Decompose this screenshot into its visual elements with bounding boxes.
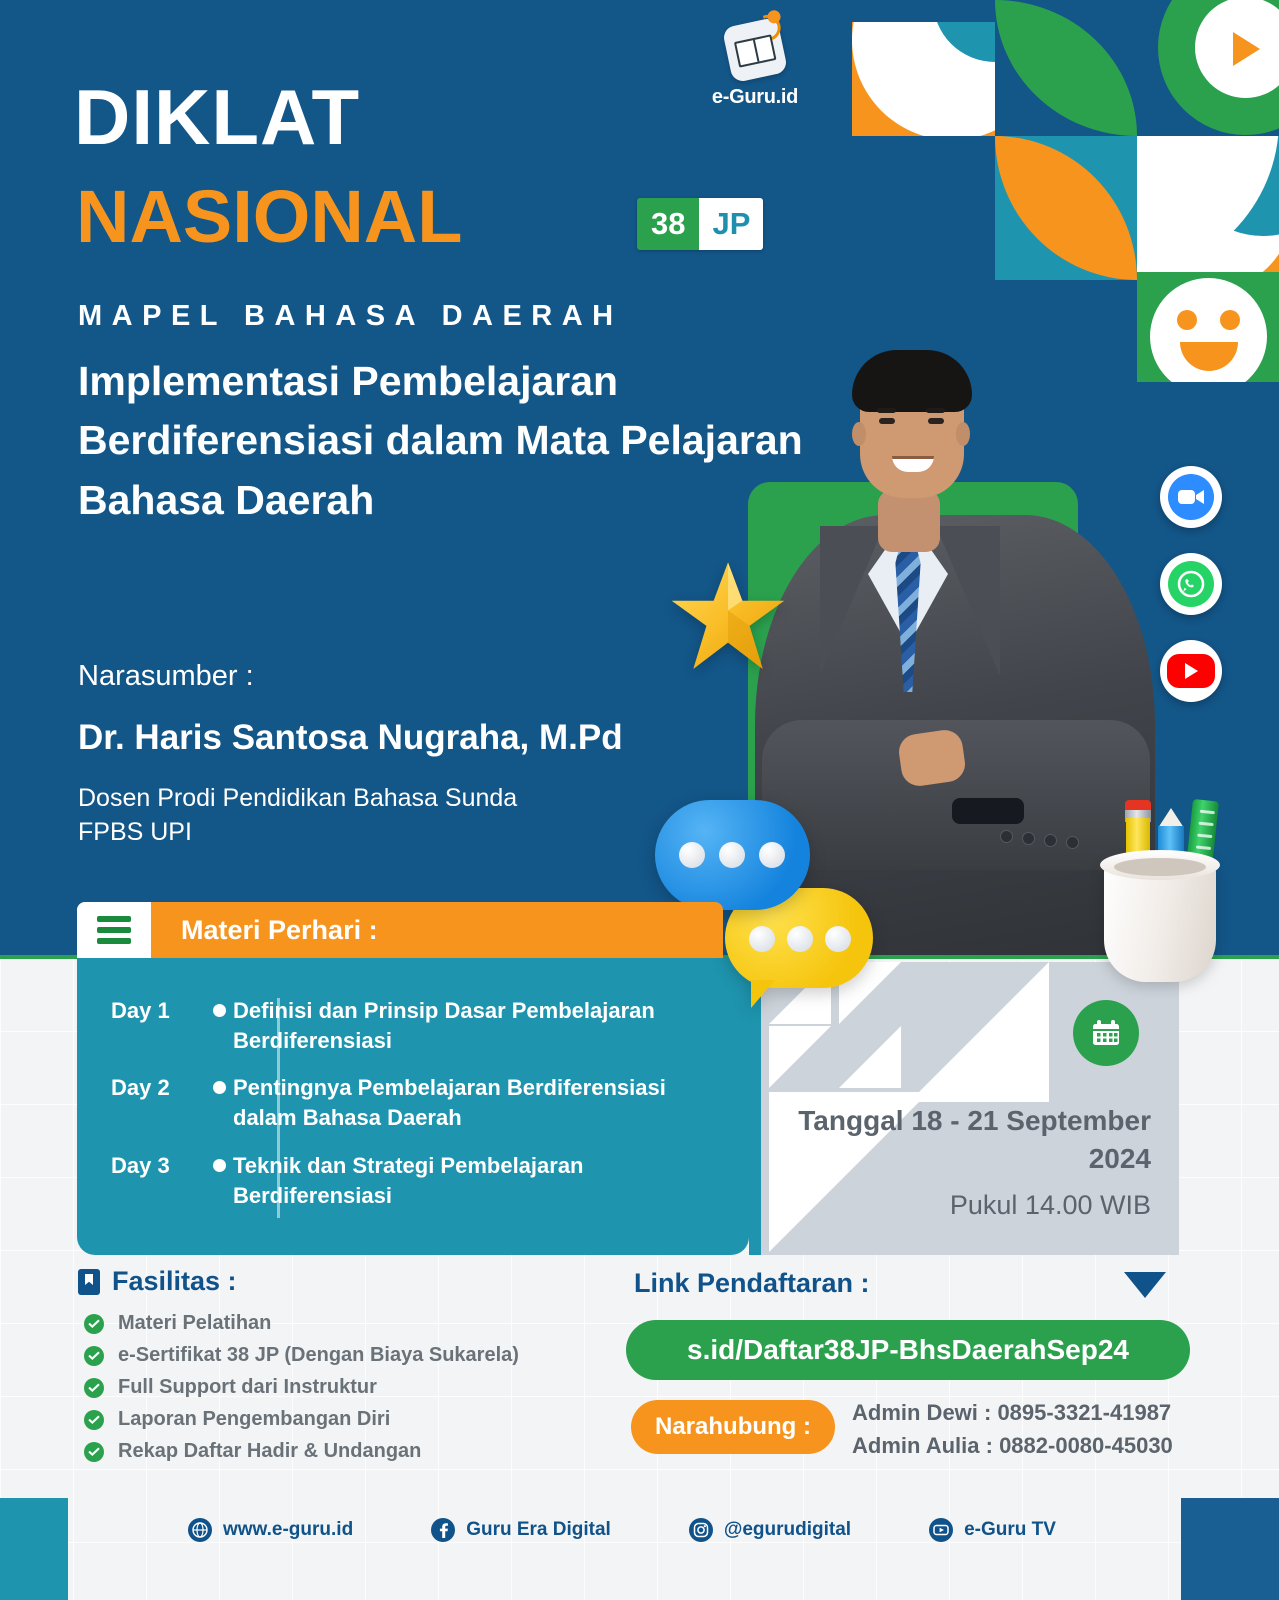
calendar-glyph <box>1090 1017 1122 1049</box>
calendar-icon <box>1073 1000 1139 1066</box>
bullet-icon <box>205 996 233 1017</box>
list-item: Full Support dari Instruktur <box>84 1376 519 1399</box>
contact-list: Admin Dewi : 0895-3321-41987 Admin Aulia… <box>852 1396 1173 1463</box>
list-item: e-Sertifikat 38 JP (Dengan Biaya Sukarel… <box>84 1344 519 1367</box>
check-icon <box>84 1314 104 1334</box>
bullet-icon <box>205 1073 233 1094</box>
star-3d-decoration <box>668 560 788 675</box>
contact-label-badge: Narahubung : <box>631 1400 835 1454</box>
globe-icon <box>188 1518 212 1542</box>
jp-badge: 38 JP <box>637 198 763 250</box>
page-title: Implementasi Pembelajaran Berdiferensias… <box>78 352 848 530</box>
fasilitas-list: Materi Pelatihan e-Sertifikat 38 JP (Den… <box>84 1312 519 1472</box>
footer-item-label: Guru Era Digital <box>466 1519 611 1541</box>
list-item-label: Rekap Daftar Hadir & Undangan <box>118 1440 421 1463</box>
heading-diklat: DIKLAT <box>74 78 360 156</box>
youtube-icon[interactable] <box>1160 640 1222 702</box>
footer-item-website[interactable]: www.e-guru.id <box>188 1518 353 1542</box>
triangle-down-icon <box>1124 1272 1166 1298</box>
registration-link-text: s.id/Daftar38JP-BhsDaerahSep24 <box>687 1334 1129 1366</box>
footer-item-instagram[interactable]: @egurudigital <box>689 1518 851 1542</box>
footer-item-label: @egurudigital <box>724 1519 851 1541</box>
check-icon <box>84 1378 104 1398</box>
speaker-label: Narasumber : <box>78 660 254 693</box>
event-date: Tanggal 18 - 21 September 2024 <box>781 1102 1151 1178</box>
check-icon <box>84 1410 104 1430</box>
heading-nasional: NASIONAL <box>76 180 462 254</box>
list-item: Materi Pelatihan <box>84 1312 519 1335</box>
list-item-label: Laporan Pengembangan Diri <box>118 1408 390 1431</box>
chat-bubble-blue <box>655 800 810 910</box>
list-item: Laporan Pengembangan Diri <box>84 1408 519 1431</box>
speaker-affiliation: Dosen Prodi Pendidikan Bahasa Sunda FPBS… <box>78 782 517 850</box>
corner-accent-blue <box>1181 1498 1279 1600</box>
day-topic: Teknik dan Strategi Pembelajaran Berdife… <box>233 1151 723 1210</box>
instagram-icon <box>689 1518 713 1542</box>
footer-item-label: www.e-guru.id <box>223 1519 353 1541</box>
registration-link-button[interactable]: s.id/Daftar38JP-BhsDaerahSep24 <box>626 1320 1190 1380</box>
footer-item-facebook[interactable]: Guru Era Digital <box>431 1518 611 1542</box>
video-camera-glyph <box>1178 488 1204 506</box>
list-item-label: e-Sertifikat 38 JP (Dengan Biaya Sukarel… <box>118 1344 519 1367</box>
schedule-row: Day 2 Pentingnya Pembelajaran Berdiferen… <box>111 1073 723 1132</box>
bookmark-icon <box>78 1269 100 1295</box>
schedule-card: Day 1 Definisi dan Prinsip Dasar Pembela… <box>77 958 749 1255</box>
day-topic: Definisi dan Prinsip Dasar Pembelajaran … <box>233 996 723 1055</box>
registration-heading: Link Pendaftaran : <box>634 1268 870 1299</box>
schedule-row: Day 3 Teknik dan Strategi Pembelajaran B… <box>111 1151 723 1210</box>
list-item-label: Full Support dari Instruktur <box>118 1376 377 1399</box>
geo-teal-block <box>852 0 995 22</box>
fasilitas-heading-row: Fasilitas : <box>78 1266 237 1297</box>
schedule-date-panel: Tanggal 18 - 21 September 2024 Pukul 14.… <box>749 962 1179 1255</box>
book-logo-icon <box>722 17 788 83</box>
speaker-name: Dr. Haris Santosa Nugraha, M.Pd <box>78 718 623 758</box>
whatsapp-glyph <box>1177 570 1205 598</box>
list-item-label: Materi Pelatihan <box>118 1312 271 1335</box>
geometric-decoration <box>852 0 1279 280</box>
day-label: Day 3 <box>111 1151 205 1179</box>
hamburger-menu-icon[interactable] <box>77 902 151 958</box>
bullet-icon <box>205 1151 233 1172</box>
heading-subject: MAPEL BAHASA DAERAH <box>78 300 623 333</box>
fasilitas-heading: Fasilitas : <box>112 1266 237 1297</box>
materi-header-bar: Materi Perhari : <box>77 902 723 958</box>
play-glyph <box>1183 662 1199 680</box>
zoom-icon[interactable] <box>1160 466 1222 528</box>
day-label: Day 1 <box>111 996 205 1024</box>
contact-item: Admin Aulia : 0882-0080-45030 <box>852 1429 1173 1462</box>
play-triangle-icon <box>1233 32 1260 66</box>
day-topic: Pentingnya Pembelajaran Berdiferensiasi … <box>233 1073 723 1132</box>
contact-label: Narahubung : <box>655 1413 811 1441</box>
list-item: Rekap Daftar Hadir & Undangan <box>84 1440 519 1463</box>
jp-badge-number: 38 <box>637 198 699 250</box>
youtube-icon <box>929 1518 953 1542</box>
check-icon <box>84 1346 104 1366</box>
day-label: Day 2 <box>111 1073 205 1101</box>
event-time: Pukul 14.00 WIB <box>781 1190 1151 1221</box>
whatsapp-icon[interactable] <box>1160 553 1222 615</box>
materi-heading: Materi Perhari : <box>181 915 378 946</box>
check-icon <box>84 1442 104 1462</box>
contact-item: Admin Dewi : 0895-3321-41987 <box>852 1396 1173 1429</box>
pencil-cup-decoration <box>1092 800 1242 990</box>
brand-logo-text: e-Guru.id <box>700 86 810 109</box>
footer-item-youtube[interactable]: e-Guru TV <box>929 1518 1056 1542</box>
jp-badge-unit: JP <box>699 198 763 250</box>
facebook-icon <box>431 1518 455 1542</box>
brand-logo: e-Guru.id <box>700 22 810 109</box>
poster-root: e-Guru.id DIKLAT NASIONAL 38 JP MAPEL BA… <box>0 0 1279 1600</box>
footer-item-label: e-Guru TV <box>964 1519 1056 1541</box>
footer-bar: www.e-guru.id Guru Era Digital @egurudig… <box>0 1500 1279 1560</box>
corner-accent-teal <box>0 1498 68 1600</box>
schedule-row: Day 1 Definisi dan Prinsip Dasar Pembela… <box>111 996 723 1055</box>
